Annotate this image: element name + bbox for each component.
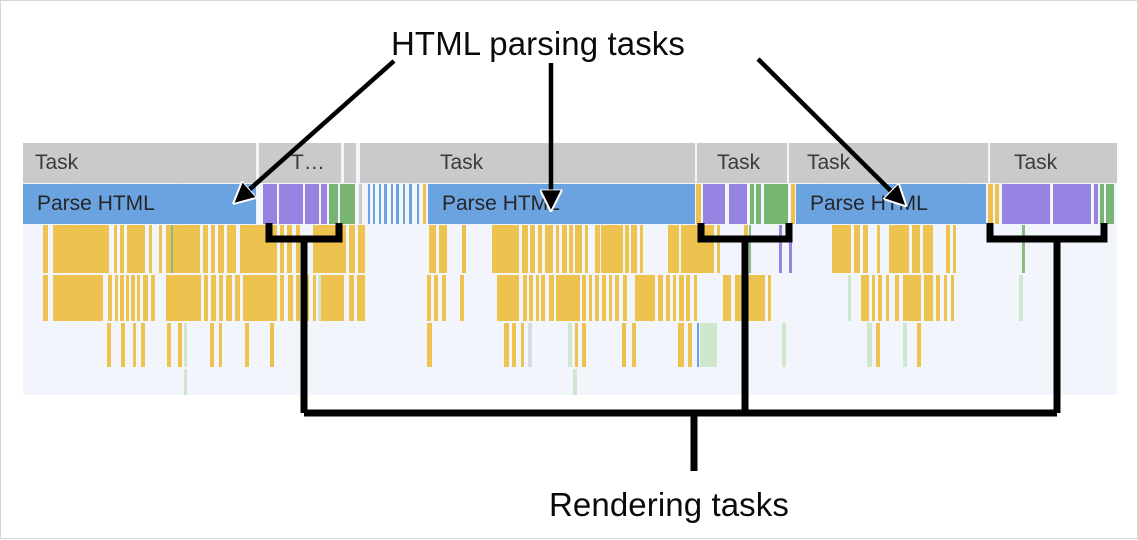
flame-bar[interactable] (582, 275, 586, 321)
flame-bar[interactable] (848, 275, 851, 321)
rendering-tasks-label: Rendering tasks (549, 488, 789, 521)
flame-bar[interactable] (723, 275, 731, 321)
flame-bar[interactable] (167, 323, 171, 367)
flame-bar[interactable] (863, 225, 868, 273)
timeline-segment-blue[interactable] (396, 184, 399, 224)
timeline-segment-green[interactable] (329, 184, 338, 224)
flame-bar[interactable] (184, 369, 187, 395)
flame-bar[interactable] (632, 323, 636, 367)
flame-depth-4 (23, 369, 1117, 395)
flame-bar[interactable] (133, 323, 136, 367)
flame-bar[interactable] (924, 275, 933, 321)
flame-bar[interactable] (171, 225, 173, 273)
flame-bar[interactable] (936, 275, 940, 321)
flame-bar[interactable] (219, 275, 223, 321)
timeline-segment-gray[interactable] (359, 184, 362, 224)
flame-bar[interactable] (953, 225, 956, 273)
timeline-segment-blue[interactable] (391, 184, 393, 224)
flame-bar[interactable] (204, 275, 208, 321)
timeline-segment-purple[interactable] (703, 184, 725, 224)
flame-bar[interactable] (549, 275, 554, 321)
flame-bar[interactable] (203, 225, 208, 273)
flame-bar[interactable] (226, 275, 232, 321)
flame-bar[interactable] (313, 275, 316, 321)
flame-bar[interactable] (460, 275, 464, 321)
flame-bar[interactable] (313, 225, 346, 273)
flame-chart-track[interactable] (23, 225, 1117, 395)
flame-bar[interactable] (43, 225, 48, 273)
timeline-segment-purple[interactable] (729, 184, 747, 224)
figure-frame: TaskT…TaskTaskTaskTask Parse HTMLParse H… (0, 0, 1138, 539)
flame-bar[interactable] (861, 275, 869, 321)
flame-bar[interactable] (280, 275, 284, 321)
flame-bar[interactable] (623, 275, 627, 321)
flame-bar[interactable] (886, 275, 889, 321)
flame-bar[interactable] (562, 225, 567, 273)
flame-bar[interactable] (877, 225, 880, 273)
flame-bar[interactable] (568, 323, 572, 367)
task-block[interactable]: T… (279, 143, 341, 183)
flame-bar[interactable] (320, 275, 344, 321)
flame-bar[interactable] (304, 275, 309, 321)
flame-bar[interactable] (143, 275, 148, 321)
flame-bar[interactable] (538, 225, 542, 273)
flame-bar[interactable] (349, 275, 354, 321)
flame-bar[interactable] (694, 275, 697, 321)
flame-bar[interactable] (779, 225, 782, 273)
flame-bar[interactable] (427, 275, 431, 321)
flame-bar[interactable] (625, 225, 629, 273)
timeline-segment-blue[interactable] (379, 184, 381, 224)
flame-bar[interactable] (635, 275, 655, 321)
flame-bar[interactable] (115, 275, 118, 321)
flame-bar[interactable] (878, 275, 882, 321)
flame-bar[interactable] (744, 225, 748, 273)
flame-bar[interactable] (789, 225, 792, 273)
flame-bar[interactable] (697, 323, 699, 367)
timeline-segment-yellow[interactable] (423, 184, 426, 224)
flame-bar[interactable] (235, 275, 240, 321)
flame-bar[interactable] (595, 225, 600, 273)
flame-bar[interactable] (714, 323, 717, 367)
flame-bar[interactable] (569, 225, 573, 273)
flame-bar[interactable] (556, 225, 559, 273)
flame-bar[interactable] (666, 275, 670, 321)
flame-bar[interactable] (245, 323, 249, 367)
timeline-segment-purple[interactable] (1053, 184, 1091, 224)
flame-bar[interactable] (318, 275, 321, 321)
flame-bar[interactable] (530, 225, 535, 273)
flame-bar[interactable] (640, 225, 643, 273)
flame-bar[interactable] (944, 275, 947, 321)
html-parsing-tasks-label: HTML parsing tasks (391, 27, 685, 60)
timeline-segment-green[interactable] (756, 184, 761, 224)
flame-bar[interactable] (439, 225, 447, 273)
flame-bar[interactable] (889, 225, 909, 273)
flame-bar[interactable] (349, 225, 355, 273)
timeline-segment-purple[interactable] (263, 184, 277, 224)
flame-bar[interactable] (895, 275, 899, 321)
timeline-segment-yellow[interactable] (988, 184, 993, 224)
flame-bar[interactable] (631, 225, 637, 273)
flame-bar[interactable] (946, 225, 950, 273)
timeline-segment-purple[interactable] (1002, 184, 1050, 224)
flame-bar[interactable] (120, 225, 124, 273)
flame-bar[interactable] (522, 225, 528, 273)
flame-bar[interactable] (211, 275, 216, 321)
flame-bar[interactable] (622, 323, 626, 367)
flame-bar[interactable] (582, 323, 586, 367)
flame-bar[interactable] (575, 225, 582, 273)
flame-bar[interactable] (114, 225, 117, 273)
flame-bar[interactable] (492, 225, 519, 273)
flame-bar[interactable] (615, 275, 619, 321)
flame-bar[interactable] (872, 275, 875, 321)
flame-bar[interactable] (131, 275, 135, 321)
flame-bar[interactable] (541, 275, 545, 321)
flame-bar[interactable] (867, 323, 872, 367)
parse-html-track[interactable]: Parse HTMLParse HTMLParse HTML (23, 184, 1117, 224)
performance-timeline-panel[interactable]: TaskT…TaskTaskTaskTask Parse HTMLParse H… (23, 143, 1117, 395)
flame-bar[interactable] (545, 225, 553, 273)
timeline-segment-blue[interactable] (409, 184, 412, 224)
timeline-segment-purple[interactable] (1094, 184, 1098, 224)
flame-depth-2 (23, 275, 1117, 321)
flame-bar[interactable] (427, 323, 432, 367)
flame-bar[interactable] (595, 275, 599, 321)
flame-bar[interactable] (270, 323, 274, 367)
flame-bar[interactable] (141, 323, 145, 367)
timeline-segment-purple[interactable] (321, 184, 327, 224)
flame-bar[interactable] (218, 225, 224, 273)
timeline-segment-green[interactable] (340, 184, 355, 224)
timeline-segment-yellow[interactable] (696, 184, 701, 224)
flame-bar[interactable] (127, 225, 145, 273)
timeline-segment-green[interactable] (750, 184, 754, 224)
flame-bar[interactable] (668, 225, 679, 273)
flame-bar[interactable] (923, 225, 933, 273)
flame-bar[interactable] (678, 323, 684, 367)
flame-bar[interactable] (686, 275, 690, 321)
task-block[interactable]: Task (795, 143, 988, 183)
flame-depth-1 (23, 225, 1117, 273)
flame-bar[interactable] (240, 225, 277, 273)
task-block[interactable]: Task (23, 143, 256, 183)
flame-bar[interactable] (442, 275, 446, 321)
flame-bar[interactable] (679, 275, 684, 321)
parse-html-block[interactable]: Parse HTML (796, 184, 986, 224)
task-block[interactable]: Task (428, 143, 695, 183)
flame-depth-3 (23, 323, 1117, 367)
flame-bar[interactable] (243, 275, 277, 321)
flame-bar[interactable] (210, 323, 214, 367)
flame-bar[interactable] (126, 275, 129, 321)
flame-bar[interactable] (159, 225, 162, 273)
flame-bar[interactable] (296, 275, 300, 321)
flame-bar[interactable] (137, 275, 140, 321)
flame-bar[interactable] (688, 323, 692, 367)
flame-bar[interactable] (681, 225, 714, 273)
flame-bar[interactable] (903, 323, 907, 367)
timeline-segment-green[interactable] (1106, 184, 1114, 224)
flame-bar[interactable] (529, 275, 533, 321)
flame-bar[interactable] (462, 225, 466, 273)
flame-bar[interactable] (854, 225, 860, 273)
timeline-segment-purple[interactable] (305, 184, 319, 224)
flame-bar[interactable] (53, 275, 103, 321)
flame-bar[interactable] (573, 369, 577, 395)
flame-bar[interactable] (227, 225, 236, 273)
flame-bar[interactable] (903, 275, 921, 321)
flame-bar[interactable] (589, 275, 592, 321)
flame-bar[interactable] (280, 225, 284, 273)
flame-bar[interactable] (575, 323, 578, 367)
flame-bar[interactable] (43, 275, 48, 321)
timeline-segment-blue[interactable] (373, 184, 375, 224)
flame-bar[interactable] (951, 275, 954, 321)
flame-bar[interactable] (184, 323, 187, 367)
flame-bar[interactable] (288, 275, 293, 321)
flame-bar[interactable] (601, 225, 623, 273)
timeline-segment-green[interactable] (1100, 184, 1104, 224)
task-block-small[interactable] (344, 143, 356, 183)
flame-bar[interactable] (434, 275, 438, 321)
flame-bar[interactable] (121, 323, 125, 367)
flame-bar[interactable] (528, 323, 532, 367)
flame-bar[interactable] (219, 323, 222, 367)
flame-bar[interactable] (876, 323, 880, 367)
flame-bar[interactable] (917, 323, 921, 367)
flame-bar[interactable] (178, 323, 182, 367)
flame-bar[interactable] (735, 275, 765, 321)
flame-bar[interactable] (768, 275, 771, 321)
flame-bar[interactable] (151, 275, 155, 321)
flame-bar[interactable] (504, 323, 509, 367)
timeline-segment-yellow[interactable] (995, 184, 999, 224)
flame-bar[interactable] (536, 275, 539, 321)
flame-bar[interactable] (108, 275, 112, 321)
flame-bar[interactable] (429, 225, 436, 273)
flame-bar[interactable] (609, 275, 612, 321)
flame-bar[interactable] (749, 225, 751, 273)
task-track[interactable]: TaskT…TaskTaskTaskTask (23, 143, 1117, 183)
flame-bar[interactable] (1022, 225, 1025, 273)
flame-bar[interactable] (521, 323, 524, 367)
flame-bar[interactable] (523, 275, 527, 321)
parse-html-block[interactable]: Parse HTML (23, 184, 256, 224)
parse-html-block[interactable]: Parse HTML (428, 184, 695, 224)
timeline-segment-blue[interactable] (384, 184, 387, 224)
task-block[interactable]: Task (705, 143, 787, 183)
task-block[interactable]: Task (1002, 143, 1117, 183)
timeline-segment-purple[interactable] (279, 184, 303, 224)
timeline-segment-blue[interactable] (403, 184, 405, 224)
flame-bar[interactable] (287, 225, 292, 273)
flame-bar[interactable] (717, 225, 720, 273)
flame-bar[interactable] (497, 275, 519, 321)
flame-bar[interactable] (585, 225, 588, 273)
flame-bar[interactable] (53, 225, 109, 273)
timeline-segment-yellow[interactable] (791, 184, 795, 224)
flame-bar[interactable] (296, 225, 300, 273)
flame-bar[interactable] (358, 225, 365, 273)
flame-bar[interactable] (673, 275, 676, 321)
flame-bar[interactable] (120, 275, 124, 321)
flame-bar[interactable] (556, 275, 580, 321)
flame-bar[interactable] (512, 323, 516, 367)
timeline-segment-blue[interactable] (368, 184, 370, 224)
flame-bar[interactable] (832, 225, 851, 273)
flame-bar[interactable] (912, 225, 920, 273)
timeline-segment-green[interactable] (764, 184, 788, 224)
flame-bar[interactable] (602, 275, 606, 321)
flame-bar[interactable] (166, 275, 201, 321)
flame-bar[interactable] (658, 275, 663, 321)
timeline-segment-blue[interactable] (417, 184, 419, 224)
flame-bar[interactable] (782, 323, 786, 367)
flame-bar[interactable] (107, 323, 111, 367)
flame-bar[interactable] (211, 225, 215, 273)
flame-bar[interactable] (1019, 275, 1023, 321)
flame-bar[interactable] (357, 275, 365, 321)
flame-bar[interactable] (149, 225, 152, 273)
